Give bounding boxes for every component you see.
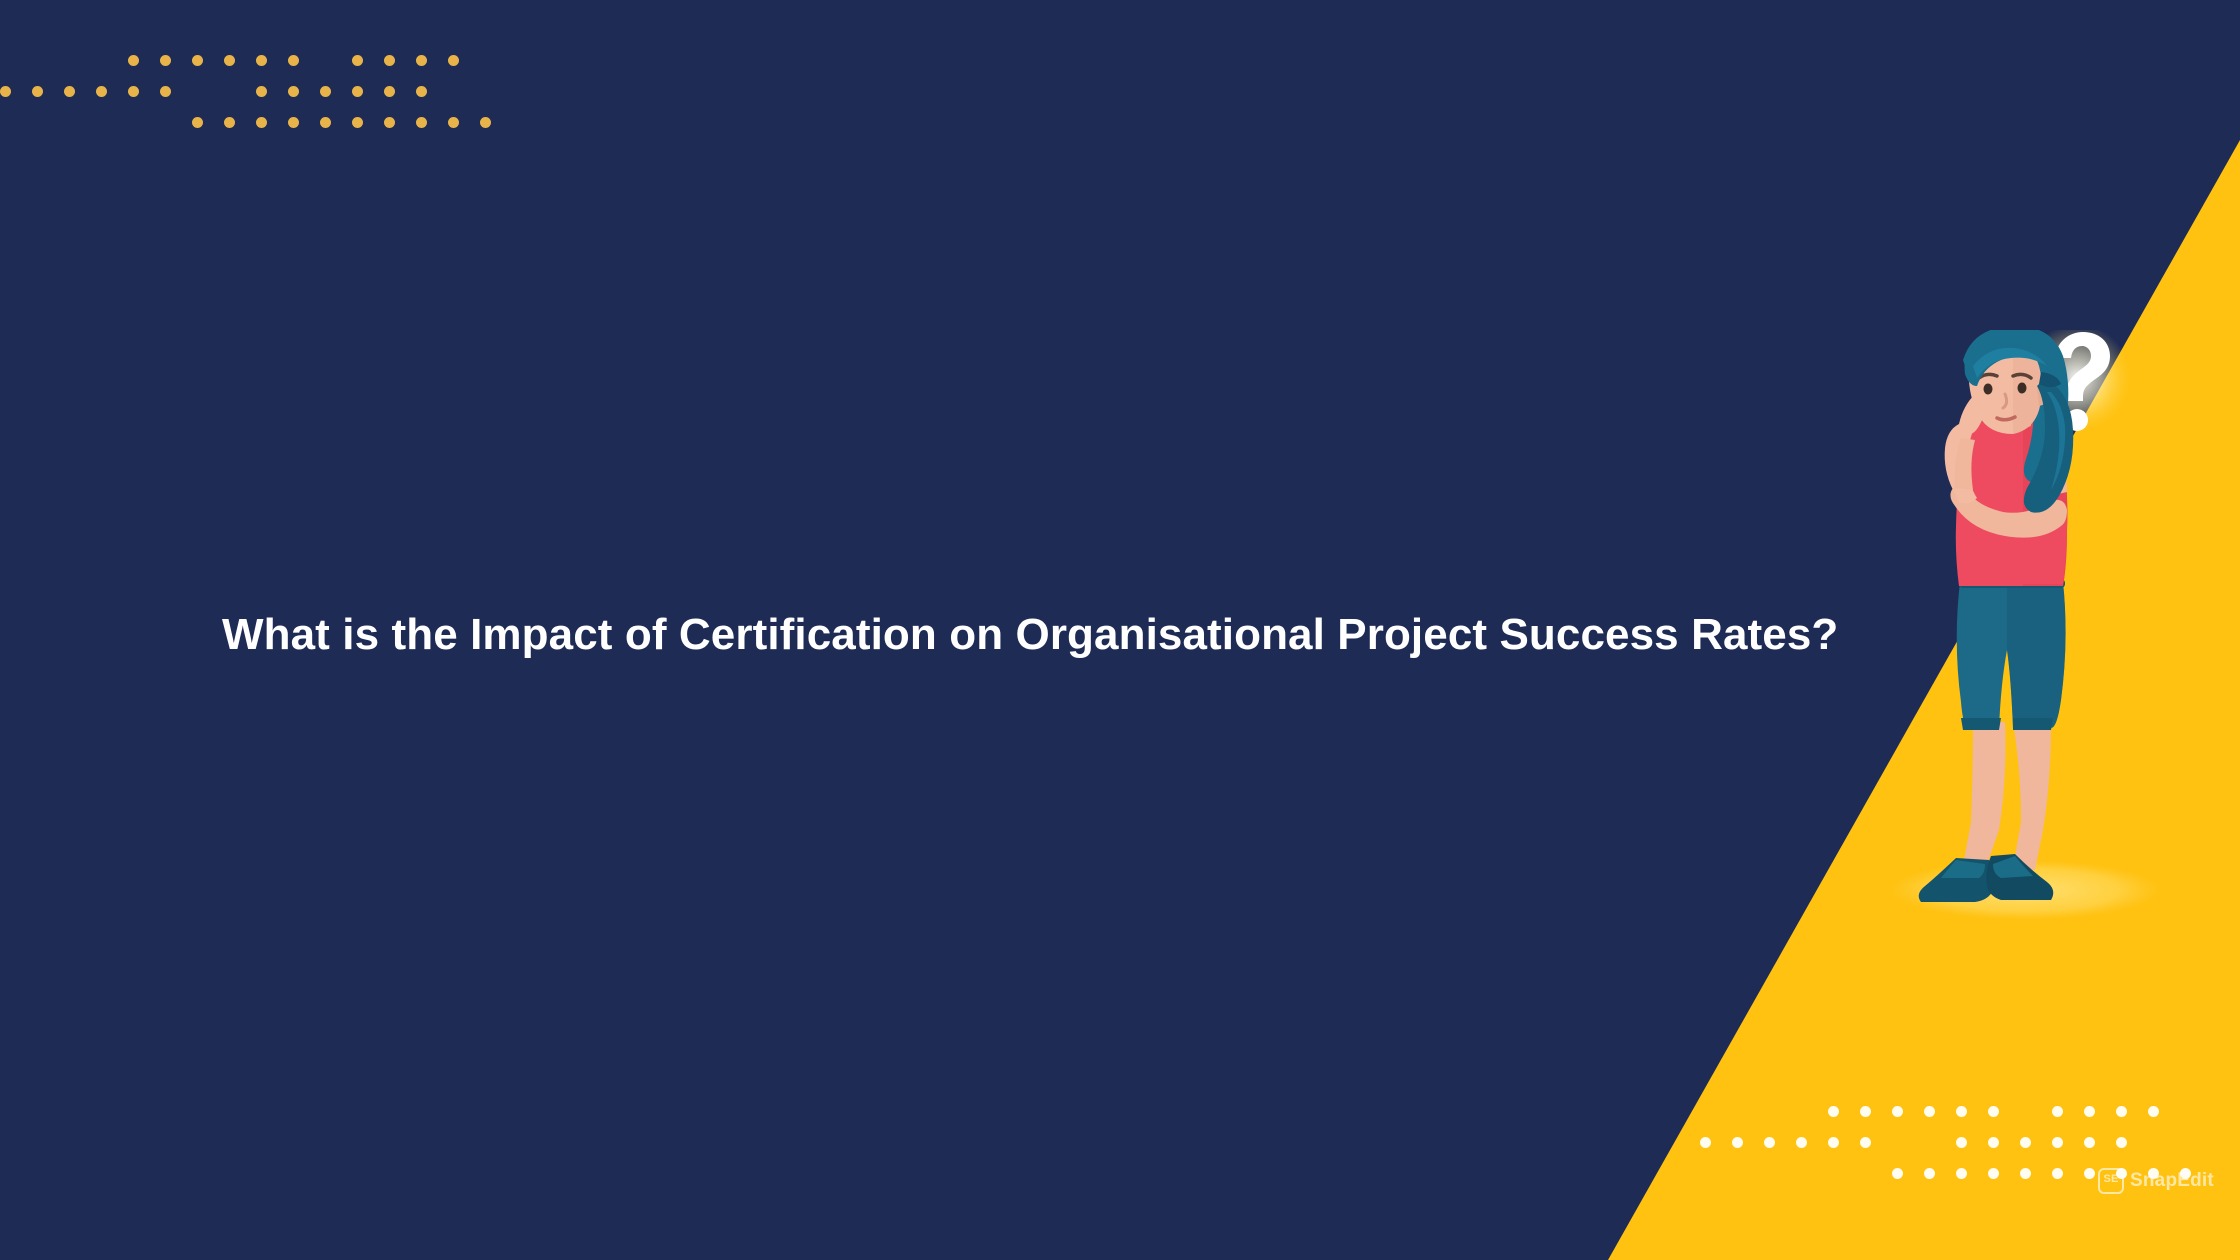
decorative-dot — [288, 55, 299, 66]
decorative-dot — [384, 55, 395, 66]
page-title: What is the Impact of Certification on O… — [222, 607, 1922, 662]
pants-shading — [2007, 582, 2066, 728]
decorative-dot — [96, 86, 107, 97]
decorative-dot — [160, 55, 171, 66]
decorative-dot — [224, 55, 235, 66]
decorative-dot — [416, 55, 427, 66]
decorative-dot — [448, 117, 459, 128]
leg-back — [1963, 722, 2005, 870]
decorative-dot — [160, 86, 171, 97]
decorative-dot — [288, 117, 299, 128]
pants-cuff-back — [1961, 718, 2001, 730]
snapedit-watermark: SE SnapEdit — [2098, 1168, 2214, 1194]
snapedit-label: SnapEdit — [2130, 1170, 2214, 1192]
decorative-dot — [192, 117, 203, 128]
eye-left — [1984, 384, 1993, 395]
decorative-dot — [128, 86, 139, 97]
decorative-dot — [32, 86, 43, 97]
decorative-dot — [0, 86, 11, 97]
decorative-dot — [224, 117, 235, 128]
thinking-woman-illustration — [1855, 330, 2195, 930]
decorative-dot — [256, 117, 267, 128]
decorative-dot — [192, 55, 203, 66]
decorative-dot — [480, 117, 491, 128]
dot-grid-top-left — [0, 0, 540, 150]
decorative-dot — [64, 86, 75, 97]
decorative-dot — [320, 117, 331, 128]
snapedit-badge-icon: SE — [2098, 1168, 2124, 1194]
leg-front — [2013, 722, 2051, 870]
eye-right — [2018, 383, 2027, 394]
decorative-dot — [384, 117, 395, 128]
decorative-dot — [128, 55, 139, 66]
decorative-dot — [448, 55, 459, 66]
decorative-dot — [352, 55, 363, 66]
decorative-dot — [320, 86, 331, 97]
decorative-dot — [416, 86, 427, 97]
decorative-dot — [256, 55, 267, 66]
pants-cuff-front — [2013, 718, 2053, 730]
decorative-dot — [384, 86, 395, 97]
slide-canvas: What is the Impact of Certification on O… — [0, 0, 2240, 1260]
decorative-dot — [256, 86, 267, 97]
decorative-dot — [288, 86, 299, 97]
decorative-dot — [416, 117, 427, 128]
decorative-dot — [352, 117, 363, 128]
decorative-dot — [352, 86, 363, 97]
